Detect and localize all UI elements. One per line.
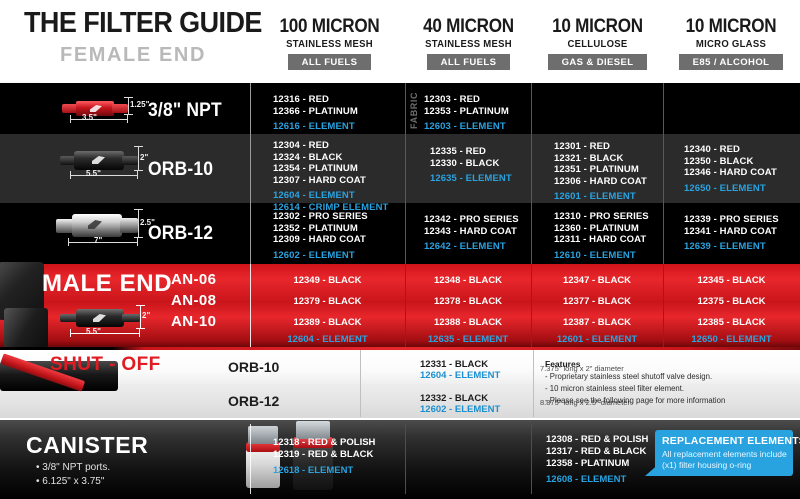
product-thumb-orb12: 7" 2.5" [54,207,150,249]
cell-orb10-40micron: 12335 - RED 12330 - BLACK 12635 - ELEMEN… [430,146,512,185]
dimension-diameter: 2" [142,311,150,320]
filter-guide-page: THE FILTER GUIDE FEMALE END 100 MICRON S… [0,0,800,499]
part-number: 12353 - PLATINUM [424,106,509,118]
column-media-label: STAINLESS MESH [256,39,403,50]
cell-npt-40micron: 12303 - RED 12353 - PLATINUM 12603 - ELE… [424,94,509,133]
column-divider [531,83,532,264]
canister-part-number: 12317 - RED & BLACK [546,446,646,458]
section-title-canister: CANISTER [26,432,148,459]
cell-npt-100micron: 12316 - RED 12366 - PLATINUM 12616 - ELE… [273,94,358,133]
features-title: Features [545,359,580,369]
row-label-an06: AN-06 [171,271,216,288]
column-micron-label: 10 MICRON [539,16,657,38]
column-fuel-badge: E85 / ALCOHOL [679,54,784,70]
an-fitting-graphic-2 [4,308,48,348]
cell-an10-10micron-microglass: 12385 - BLACK [663,317,800,328]
row-label-an10: AN-10 [171,313,216,330]
row-label-shutoff-orb10: ORB-10 [228,359,279,375]
column-divider [250,83,251,264]
part-number: 12346 - HARD COAT [684,167,777,179]
dimension-length: 5.5" [86,327,101,336]
cell-male-element-10micron-microglass: 12650 - ELEMENT [663,334,800,345]
canister-part-number: 12308 - RED & POLISH [546,434,648,446]
part-number: 12303 - RED [424,94,509,106]
dimension-diameter: 2" [140,153,148,162]
dimension-length: 5.5" [86,169,101,178]
part-number-element: 12610 - ELEMENT [554,250,649,262]
section-title-male-end: MALE END [42,270,172,298]
part-number: 12304 - RED [273,140,388,152]
cell-orb10-10micron-microglass: 12340 - RED 12350 - BLACK 12346 - HARD C… [684,144,777,194]
cell-an10-100micron: 12389 - BLACK [250,317,405,328]
cell-male-element-10micron-cellulose: 12601 - ELEMENT [531,334,663,345]
part-number: 12310 - PRO SERIES [554,211,649,223]
part-number: 12301 - RED [554,141,647,153]
part-number: 12342 - PRO SERIES [424,214,519,226]
cell-an06-100micron: 12349 - BLACK [250,275,405,286]
column-micron-label: 10 MICRON [671,16,792,38]
part-number: 12330 - BLACK [430,158,512,170]
part-number-element: 12602 - ELEMENT [273,250,368,262]
column-fuel-badge: ALL FUELS [427,54,511,70]
part-number: 12350 - BLACK [684,156,777,168]
column-divider [663,83,664,264]
canister-bullet: • 6.125" x 3.75" [36,476,104,487]
canister-part-number-element: 12608 - ELEMENT [546,474,626,486]
part-number: 12340 - RED [684,144,777,156]
row-label-shutoff-orb12: ORB-12 [228,393,279,409]
cell-orb10-100micron: 12304 - RED 12324 - BLACK 12354 - PLATIN… [273,140,388,214]
feature-item: - 10 micron stainless steel filter eleme… [545,384,684,393]
cell-male-element-40micron: 12635 - ELEMENT [405,334,531,345]
part-number: 12354 - PLATINUM [273,163,388,175]
column-divider [405,83,406,264]
column-header-100-micron: 100 MICRON STAINLESS MESH ALL FUELS [252,16,407,70]
row-label-an08: AN-08 [171,292,216,309]
canister-bullet: • 3/8" NPT ports. [36,462,110,473]
part-number: 12351 - PLATINUM [554,164,647,176]
part-number-element: 12603 - ELEMENT [424,121,509,133]
part-number: 12321 - BLACK [554,153,647,165]
title-area: THE FILTER GUIDE FEMALE END 100 MICRON S… [0,0,800,83]
column-divider [250,424,251,494]
part-number-element-shutoff-orb12: 12602 - ELEMENT [420,404,500,415]
part-number-element: 12650 - ELEMENT [684,183,777,195]
cell-orb10-10micron-cellulose: 12301 - RED 12321 - BLACK 12351 - PLATIN… [554,141,647,203]
cell-an10-40micron: 12388 - BLACK [405,317,531,328]
male-end-table: MALE END 5.5" 2" AN-06 AN-08 AN-10 12349… [0,264,800,347]
cell-orb12-40micron: 12342 - PRO SERIES 12343 - HARD COAT 126… [424,214,519,253]
part-number-element: 12616 - ELEMENT [273,121,358,133]
column-header-40-micron: 40 MICRON STAINLESS MESH ALL FUELS [405,16,532,70]
page-title: THE FILTER GUIDE [24,7,262,40]
product-thumb-male: 5.5" 2" [60,302,150,342]
part-number: 12366 - PLATINUM [273,106,358,118]
cell-an08-100micron: 12379 - BLACK [250,296,405,307]
column-header-10-micron-micro-glass: 10 MICRON MICRO GLASS E85 / ALCOHOL [664,16,798,70]
section-title-shutoff: SHUT - OFF [50,354,161,376]
shutoff-table: SHUT - OFF ORB-10 ORB-12 12331 - BLACK 1… [0,347,800,420]
product-thumb-npt: 3.5" 1.25" [58,95,136,123]
part-number-element: 12604 - ELEMENT [273,190,388,202]
fabric-side-label: FABRIC [409,91,419,129]
cell-orb12-100micron: 12302 - PRO SERIES 12352 - PLATINUM 1230… [273,211,368,261]
column-media-label: MICRO GLASS [667,39,794,50]
part-number: 12306 - HARD COAT [554,176,647,188]
female-end-table: 3.5" 1.25" 3/8" NPT 5.5" 2" ORB-10 [0,83,800,264]
part-number-element: 12642 - ELEMENT [424,241,519,253]
column-divider [531,424,532,494]
part-number-shutoff-orb12: 12332 - BLACK [420,393,488,404]
row-label-npt: 3/8" NPT [148,100,222,122]
dimension-length: 7" [94,236,102,245]
cell-an10-10micron-cellulose: 12387 - BLACK [531,317,663,328]
column-header-10-micron-cellulose: 10 MICRON CELLULOSE GAS & DIESEL [532,16,663,70]
part-number-element: 12601 - ELEMENT [554,191,647,203]
row-label-orb10: ORB-10 [148,159,213,181]
cell-orb12-10micron-microglass: 12339 - PRO SERIES 12341 - HARD COAT 126… [684,214,779,253]
part-number-shutoff-orb10: 12331 - BLACK [420,359,488,370]
column-micron-label: 40 MICRON [411,16,525,38]
part-number: 12316 - RED [273,94,358,106]
part-number-element: 12635 - ELEMENT [430,173,512,185]
part-number: 12311 - HARD COAT [554,234,649,246]
cell-an08-10micron-microglass: 12375 - BLACK [663,296,800,307]
section-subtitle-female-end: FEMALE END [60,44,206,67]
callout-title: REPLACEMENT ELEMENTS [662,435,793,447]
replacement-elements-callout: REPLACEMENT ELEMENTS All replacement ele… [655,430,793,476]
part-number: 12335 - RED [430,146,512,158]
callout-body: All replacement elements include (x1) fi… [662,449,793,470]
feature-item: - Please see the following page for more… [545,396,725,405]
dimension-diameter: 1.25" [130,100,149,109]
row-label-orb12: ORB-12 [148,223,213,245]
canister-part-number: 12318 - RED & POLISH [273,437,375,449]
part-number: 12302 - PRO SERIES [273,211,368,223]
canister-part-number: 12358 - PLATINUM [546,458,629,470]
product-thumb-orb10: 5.5" 2" [58,143,148,183]
part-number: 12341 - HARD COAT [684,226,779,238]
canister-part-number: 12319 - RED & BLACK [273,449,373,461]
column-divider [533,350,534,417]
column-media-label: CELLULOSE [535,39,659,50]
cell-an06-40micron: 12348 - BLACK [405,275,531,286]
part-number: 12309 - HARD COAT [273,234,368,246]
cell-an08-10micron-cellulose: 12377 - BLACK [531,296,663,307]
column-divider [405,424,406,494]
dimension-length: 3.5" [82,113,97,122]
column-divider [360,350,361,417]
cell-an06-10micron-cellulose: 12347 - BLACK [531,275,663,286]
canister-part-number-element: 12618 - ELEMENT [273,465,353,477]
part-number-element: 12639 - ELEMENT [684,241,779,253]
column-media-label: STAINLESS MESH [408,39,529,50]
part-number: 12307 - HARD COAT [273,175,388,187]
part-number-element-shutoff-orb10: 12604 - ELEMENT [420,370,500,381]
part-number: 12324 - BLACK [273,152,388,164]
column-micron-label: 100 MICRON [260,16,400,38]
cell-an06-10micron-microglass: 12345 - BLACK [663,275,800,286]
part-number: 12360 - PLATINUM [554,223,649,235]
cell-an08-40micron: 12378 - BLACK [405,296,531,307]
cell-male-element-100micron: 12604 - ELEMENT [250,334,405,345]
part-number: 12352 - PLATINUM [273,223,368,235]
column-fuel-badge: ALL FUELS [288,54,372,70]
part-number: 12339 - PRO SERIES [684,214,779,226]
column-fuel-badge: GAS & DIESEL [548,54,648,70]
part-number: 12343 - HARD COAT [424,226,519,238]
feature-item: - Proprietary stainless steel shutoff va… [545,372,712,381]
cell-orb12-10micron-cellulose: 12310 - PRO SERIES 12360 - PLATINUM 1231… [554,211,649,261]
